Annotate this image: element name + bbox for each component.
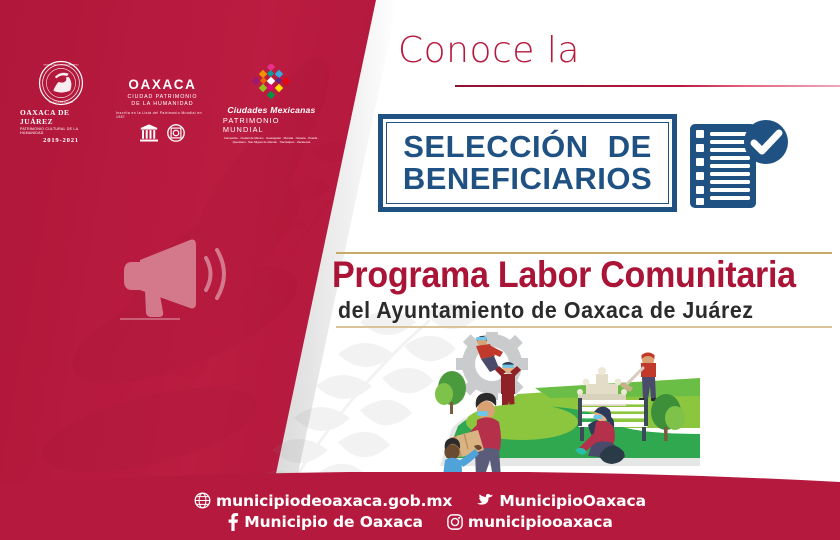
footer-twitter[interactable]: MunicipioOaxaca — [476, 492, 646, 510]
kicker-rule — [455, 85, 840, 87]
world-heritage-icon — [167, 124, 185, 142]
globe-icon — [194, 492, 211, 509]
program-title: Programa Labor Comunitaria — [332, 256, 796, 293]
logo-oaxaca-de-juarez-seal: HONORABLE AYUNTAMIENTO OAXACA DE JUAREZ … — [20, 60, 102, 144]
megaphone-divider-rule — [120, 318, 180, 320]
ciudades-cities: Campeche · Ciudad de México · Guanajuato… — [223, 136, 319, 144]
ciudades-title: Ciudades Mexicanas — [227, 106, 315, 115]
page-kicker: Conoce la — [398, 33, 580, 69]
city-seal-icon: HONORABLE AYUNTAMIENTO OAXACA DE JUAREZ — [38, 60, 84, 106]
footer-row-1: municipiodeoaxaca.gob.mx MunicipioOaxaca — [194, 492, 646, 510]
logo-oaxaca-unesco: OAXACA CIUDAD PATRIMONIO DE LA HUMANIDAD… — [116, 78, 209, 144]
footer-twitter-label: MunicipioOaxaca — [499, 492, 646, 510]
municipal-logos: HONORABLE AYUNTAMIENTO OAXACA DE JUAREZ … — [20, 68, 320, 144]
seal-line3: 2019-2021 — [43, 137, 79, 144]
footer-row-2: Municipio de Oaxaca municipiooaxaca — [227, 513, 612, 531]
oaxaca-logo-sub2: DE LA HUMANIDAD — [128, 101, 198, 109]
seal-line2: PATRIMONIO CULTURAL DE LA HUMANIDAD — [20, 127, 102, 135]
footer-facebook[interactable]: Municipio de Oaxaca — [227, 513, 423, 531]
svg-text:HONORABLE AYUNTAMIENTO: HONORABLE AYUNTAMIENTO — [44, 63, 79, 66]
facebook-icon — [227, 513, 239, 531]
ciudades-mexicanas-mosaic-icon — [249, 64, 293, 106]
title-box: SELECCIÓN DE BENEFICIARIOS — [378, 114, 677, 212]
footer-website-label: municipiodeoaxaca.gob.mx — [216, 492, 452, 510]
clipboard-checklist-icon — [686, 116, 794, 212]
title-line-1: SELECCIÓN DE — [403, 131, 652, 163]
oaxaca-logo-title: OAXACA — [128, 78, 196, 92]
footer-instagram[interactable]: municipiooaxaca — [447, 513, 613, 531]
oaxaca-logo-sub1: CIUDAD PATRIMONIO — [128, 94, 198, 102]
instagram-icon — [447, 514, 463, 530]
footer-website[interactable]: municipiodeoaxaca.gob.mx — [194, 492, 452, 510]
megaphone-icon — [118, 232, 230, 318]
footer-facebook-label: Municipio de Oaxaca — [244, 513, 423, 531]
footer-contacts: municipiodeoaxaca.gob.mx MunicipioOaxaca… — [0, 482, 840, 540]
seal-line1: OAXACA DE JUÁREZ — [20, 108, 102, 126]
unesco-temple-icon — [139, 124, 159, 142]
poster-canvas: HONORABLE AYUNTAMIENTO OAXACA DE JUAREZ … — [0, 0, 840, 540]
community-work-park-illustration — [430, 332, 700, 482]
program-subtitle: del Ayuntamiento de Oaxaca de Juárez — [338, 299, 754, 322]
footer-instagram-label: municipiooaxaca — [468, 513, 613, 531]
twitter-icon — [476, 493, 494, 509]
logo-ciudades-mexicanas: Ciudades Mexicanas PATRIMONIO MUNDIAL Ca… — [223, 64, 320, 144]
tree-left — [435, 371, 466, 414]
program-bottom-rule — [336, 326, 832, 328]
svg-text:OAXACA DE JUAREZ: OAXACA DE JUAREZ — [49, 101, 73, 104]
oaxaca-logo-sub3: Inscrita en la Lista del Patrimonio Mund… — [116, 111, 209, 119]
title-line-2: BENEFICIARIOS — [403, 163, 652, 195]
ciudades-subtitle: PATRIMONIO MUNDIAL — [223, 116, 320, 134]
title-box-inner: SELECCIÓN DE BENEFICIARIOS — [386, 122, 669, 204]
